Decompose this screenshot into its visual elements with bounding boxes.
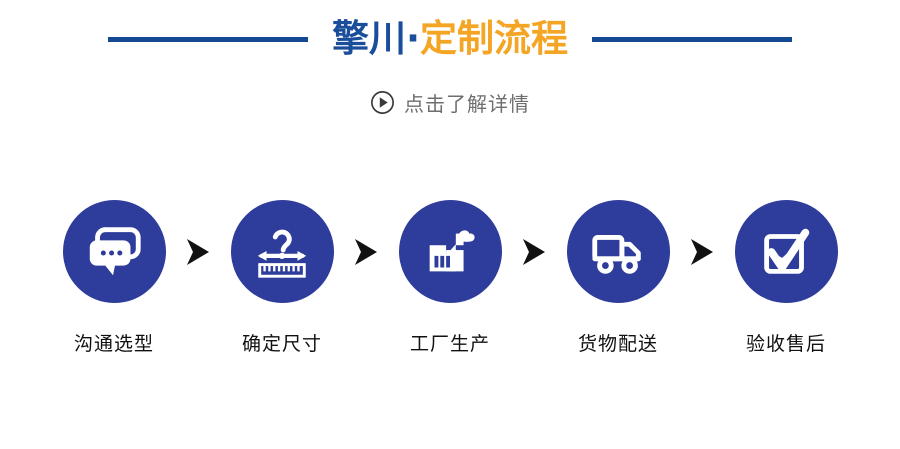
ruler-measure-icon	[251, 221, 313, 283]
arrow-right-icon	[184, 237, 212, 267]
chat-bubbles-icon	[83, 221, 145, 283]
process-step-1[interactable]: 沟通选型	[48, 200, 180, 356]
custom-process-banner: 擎川·定制流程 点击了解详情	[0, 0, 900, 449]
step-label: 沟通选型	[74, 329, 154, 356]
step-label: 工厂生产	[410, 329, 490, 356]
checkbox-check-icon	[755, 221, 817, 283]
step-label: 确定尺寸	[242, 329, 322, 356]
arrow-right-icon	[352, 237, 380, 267]
step-icon-circle[interactable]	[567, 200, 670, 303]
arrow-right-icon	[688, 237, 716, 267]
page-title-accent: 定制流程	[420, 17, 568, 60]
factory-icon	[419, 221, 481, 283]
delivery-truck-icon	[587, 221, 649, 283]
subtitle-cta[interactable]: 点击了解详情	[0, 88, 900, 117]
process-step-2[interactable]: 确定尺寸	[216, 200, 348, 356]
step-separator-2	[348, 200, 384, 303]
arrow-right-icon	[520, 237, 548, 267]
header-rule-left	[108, 37, 308, 42]
process-step-3[interactable]: 工厂生产	[384, 200, 516, 356]
step-separator-4	[684, 200, 720, 303]
step-label: 验收售后	[746, 329, 826, 356]
process-steps: 沟通选型	[0, 200, 900, 356]
step-icon-circle[interactable]	[63, 200, 166, 303]
page-title-brand: 擎川·	[332, 17, 420, 60]
subtitle-text: 点击了解详情	[404, 88, 530, 117]
step-separator-1	[180, 200, 216, 303]
play-circle-icon[interactable]	[370, 90, 395, 115]
process-step-5[interactable]: 验收售后	[720, 200, 852, 356]
step-icon-circle[interactable]	[231, 200, 334, 303]
banner-header: 擎川·定制流程	[0, 18, 900, 61]
step-icon-circle[interactable]	[735, 200, 838, 303]
header-rule-right	[592, 37, 792, 42]
page-title: 擎川·定制流程	[332, 18, 568, 61]
step-icon-circle[interactable]	[399, 200, 502, 303]
step-separator-3	[516, 200, 552, 303]
step-label: 货物配送	[578, 329, 658, 356]
process-step-4[interactable]: 货物配送	[552, 200, 684, 356]
